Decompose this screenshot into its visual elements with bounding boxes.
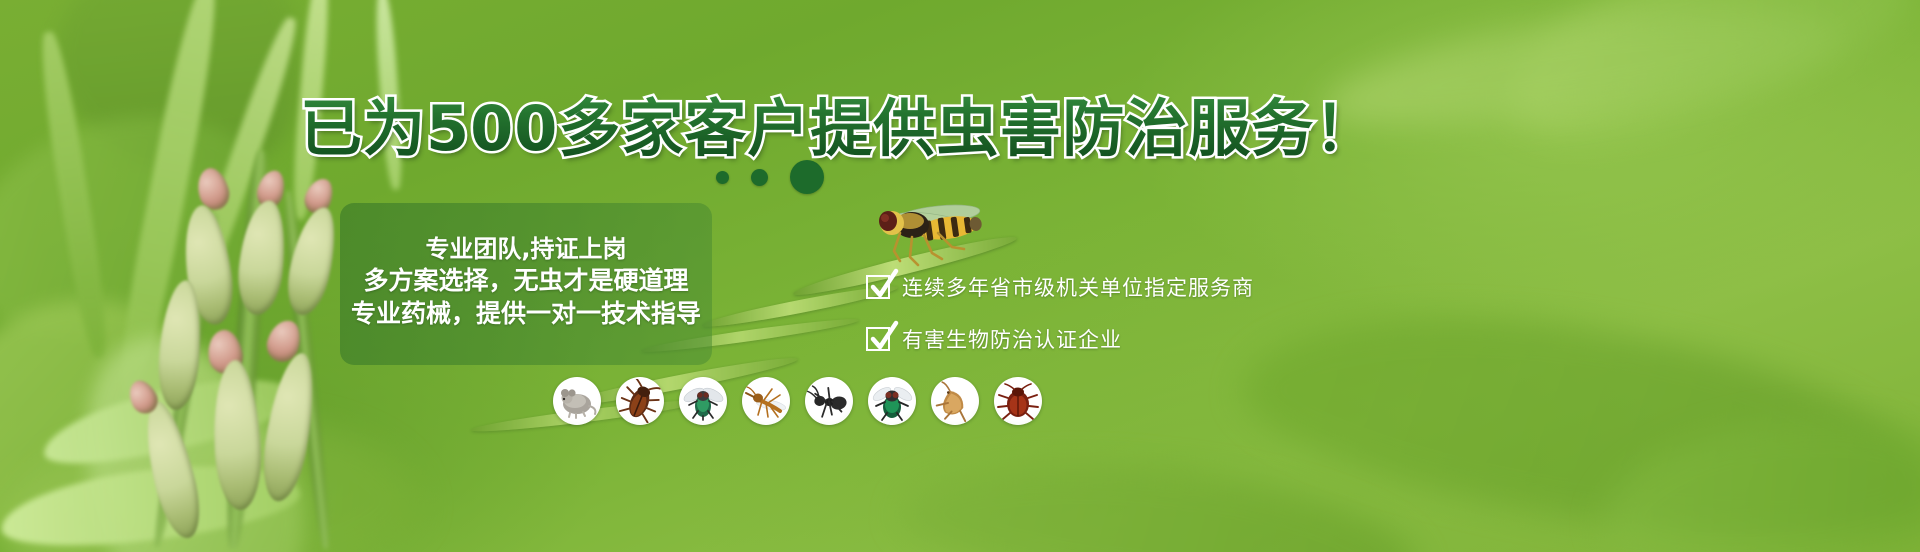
promo-line-1: 专业团队,持证上岗 (425, 237, 626, 262)
flea-icon (931, 377, 979, 425)
decor-dot-medium-icon (751, 169, 768, 186)
list-item: 有害生物防治认证企业 (866, 324, 1254, 354)
greenbottle-fly-icon (868, 377, 916, 425)
blowfly-icon (679, 377, 727, 425)
mouse-icon (553, 377, 601, 425)
headline-fill-text: 已为500多家客户提供虫害防治服务！ (300, 78, 1377, 168)
bullet-label: 有害生物防治认证企业 (902, 324, 1122, 354)
checkbox-checked-icon (866, 275, 890, 299)
decor-dot-small-icon (716, 171, 729, 184)
mosquito-icon (742, 377, 790, 425)
pest-icon-row (553, 377, 1042, 425)
promo-line-2: 多方案选择，无虫才是硬道理 (363, 268, 688, 294)
feature-bullets: 连续多年省市级机关单位指定服务商 有害生物防治认证企业 (866, 272, 1254, 354)
bullet-label: 连续多年省市级机关单位指定服务商 (902, 272, 1254, 302)
bedbug-icon (994, 377, 1042, 425)
headline: 已为500多家客户提供虫害防治服务！ 已为500多家客户提供虫害防治服务！ (300, 78, 1285, 148)
checkbox-checked-icon (866, 327, 890, 351)
cockroach-icon (616, 377, 664, 425)
promo-line-3: 专业药械，提供一对一技术指导 (351, 301, 701, 327)
ant-icon (805, 377, 853, 425)
promo-text-panel: 专业团队,持证上岗 多方案选择，无虫才是硬道理 专业药械，提供一对一技术指导 (340, 203, 712, 365)
promo-banner: 已为500多家客户提供虫害防治服务！ 已为500多家客户提供虫害防治服务！ 专业… (0, 0, 1920, 552)
list-item: 连续多年省市级机关单位指定服务商 (866, 272, 1254, 302)
